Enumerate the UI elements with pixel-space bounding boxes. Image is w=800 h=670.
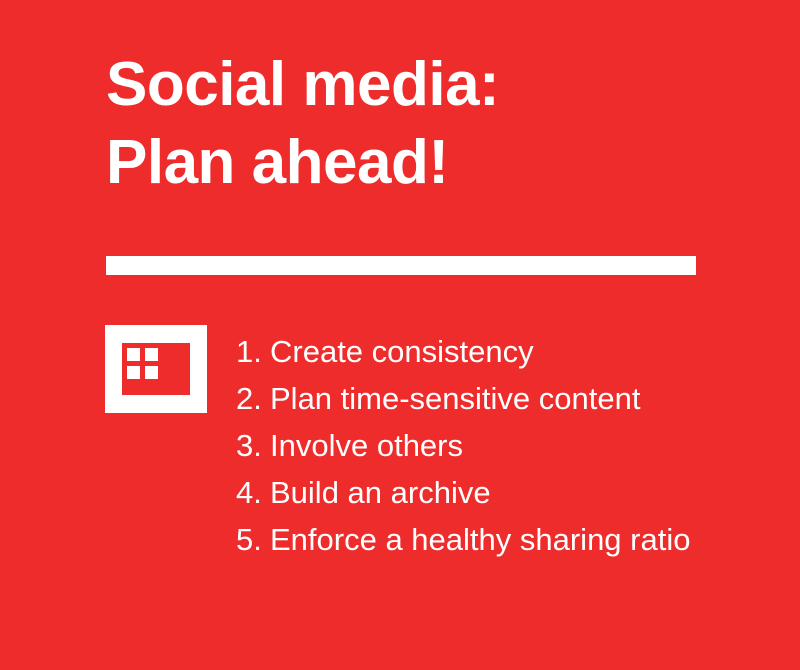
list-item-number: 4. bbox=[236, 469, 270, 516]
page-title: Social media: Plan ahead! bbox=[106, 46, 726, 202]
list-item: 4.Build an archive bbox=[236, 469, 690, 516]
list-item-label: Build an archive bbox=[270, 475, 491, 510]
list-item-label: Plan time-sensitive content bbox=[270, 381, 640, 416]
list-item-number: 1. bbox=[236, 328, 270, 375]
tips-list: 1.Create consistency 2.Plan time-sensiti… bbox=[236, 328, 690, 563]
list-item-number: 2. bbox=[236, 375, 270, 422]
window-grid-layout-icon bbox=[105, 325, 207, 413]
list-item: 3.Involve others bbox=[236, 422, 690, 469]
list-item-number: 3. bbox=[236, 422, 270, 469]
list-item-label: Involve others bbox=[270, 428, 463, 463]
title-line-1: Social media: bbox=[106, 46, 726, 124]
list-item-label: Create consistency bbox=[270, 334, 534, 369]
list-item-label: Enforce a healthy sharing ratio bbox=[270, 522, 690, 557]
social-media-infographic: Social media: Plan ahead! 1.Create consi… bbox=[0, 0, 800, 670]
list-item: 5.Enforce a healthy sharing ratio bbox=[236, 516, 690, 563]
horizontal-divider bbox=[106, 256, 696, 275]
list-item: 1.Create consistency bbox=[236, 328, 690, 375]
list-item: 2.Plan time-sensitive content bbox=[236, 375, 690, 422]
list-item-number: 5. bbox=[236, 516, 270, 563]
title-line-2: Plan ahead! bbox=[106, 124, 726, 202]
